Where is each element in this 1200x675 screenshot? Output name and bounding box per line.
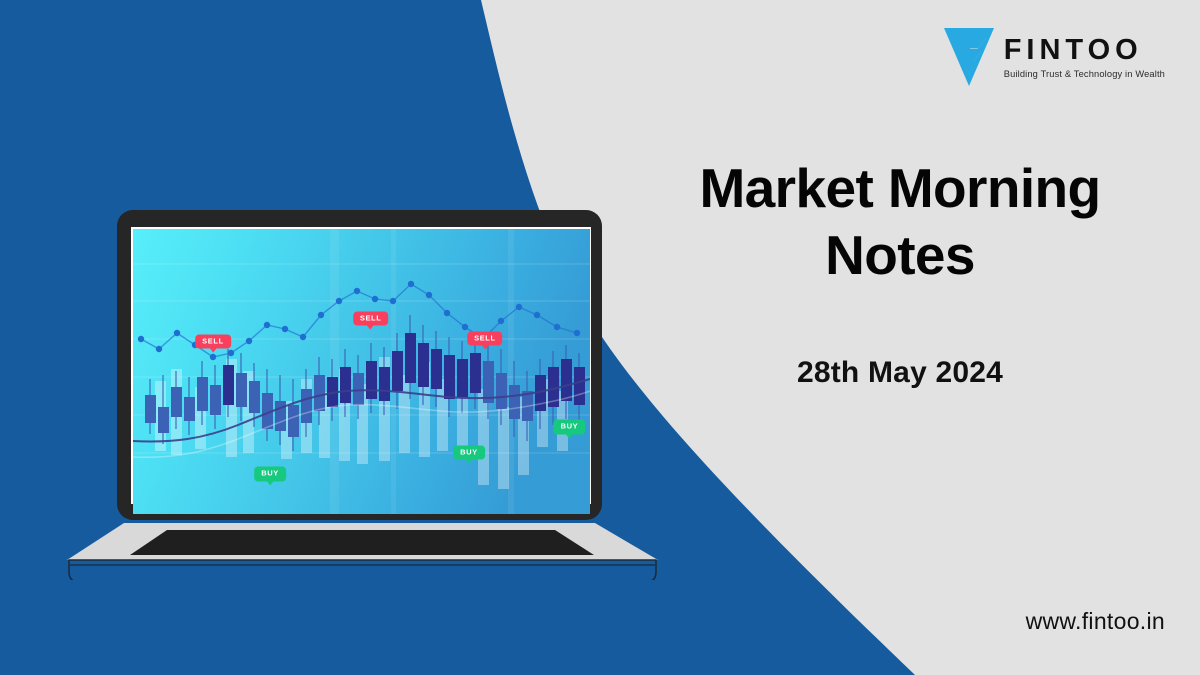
signal-label: SELL <box>202 336 224 345</box>
page-title: Market Morning Notes <box>640 155 1160 289</box>
signal-label: SELL <box>360 313 382 322</box>
brand-name: FINTOO <box>1004 36 1143 65</box>
signal-badge-buy-2[interactable]: BUY <box>453 445 485 460</box>
brand-wordmark: FINTOO Building Trust & Technology in We… <box>1004 36 1165 79</box>
market-morning-notes-banner: SELL SELL SELL BUY BUY BUY <box>0 0 1200 675</box>
signal-label: BUY <box>261 469 279 478</box>
content-panel: FINTOO Building Trust & Technology in We… <box>640 0 1200 675</box>
website-url[interactable]: www.fintoo.in <box>1026 608 1165 635</box>
signal-badge-sell-1[interactable]: SELL <box>195 334 231 349</box>
signal-badge-sell-2[interactable]: SELL <box>353 311 389 326</box>
signal-label: SELL <box>474 333 496 342</box>
laptop-front-foot <box>69 560 656 580</box>
signal-label: BUY <box>460 447 478 456</box>
signal-badge-buy-1[interactable]: BUY <box>254 467 286 482</box>
brand-tagline: Building Trust & Technology in Wealth <box>1004 69 1165 79</box>
fintoo-triangle-f-icon <box>944 28 994 86</box>
signal-label: BUY <box>561 422 579 431</box>
chart-screen: SELL SELL SELL BUY BUY BUY <box>133 229 590 514</box>
signal-badge-sell-3[interactable]: SELL <box>467 331 503 346</box>
signal-badge-buy-3[interactable]: BUY <box>554 420 586 435</box>
page-date: 28th May 2024 <box>640 356 1160 390</box>
brand-logo[interactable]: FINTOO Building Trust & Technology in We… <box>944 28 1165 86</box>
candlestick-chart <box>133 229 590 514</box>
laptop-keyboard-area <box>130 530 594 555</box>
